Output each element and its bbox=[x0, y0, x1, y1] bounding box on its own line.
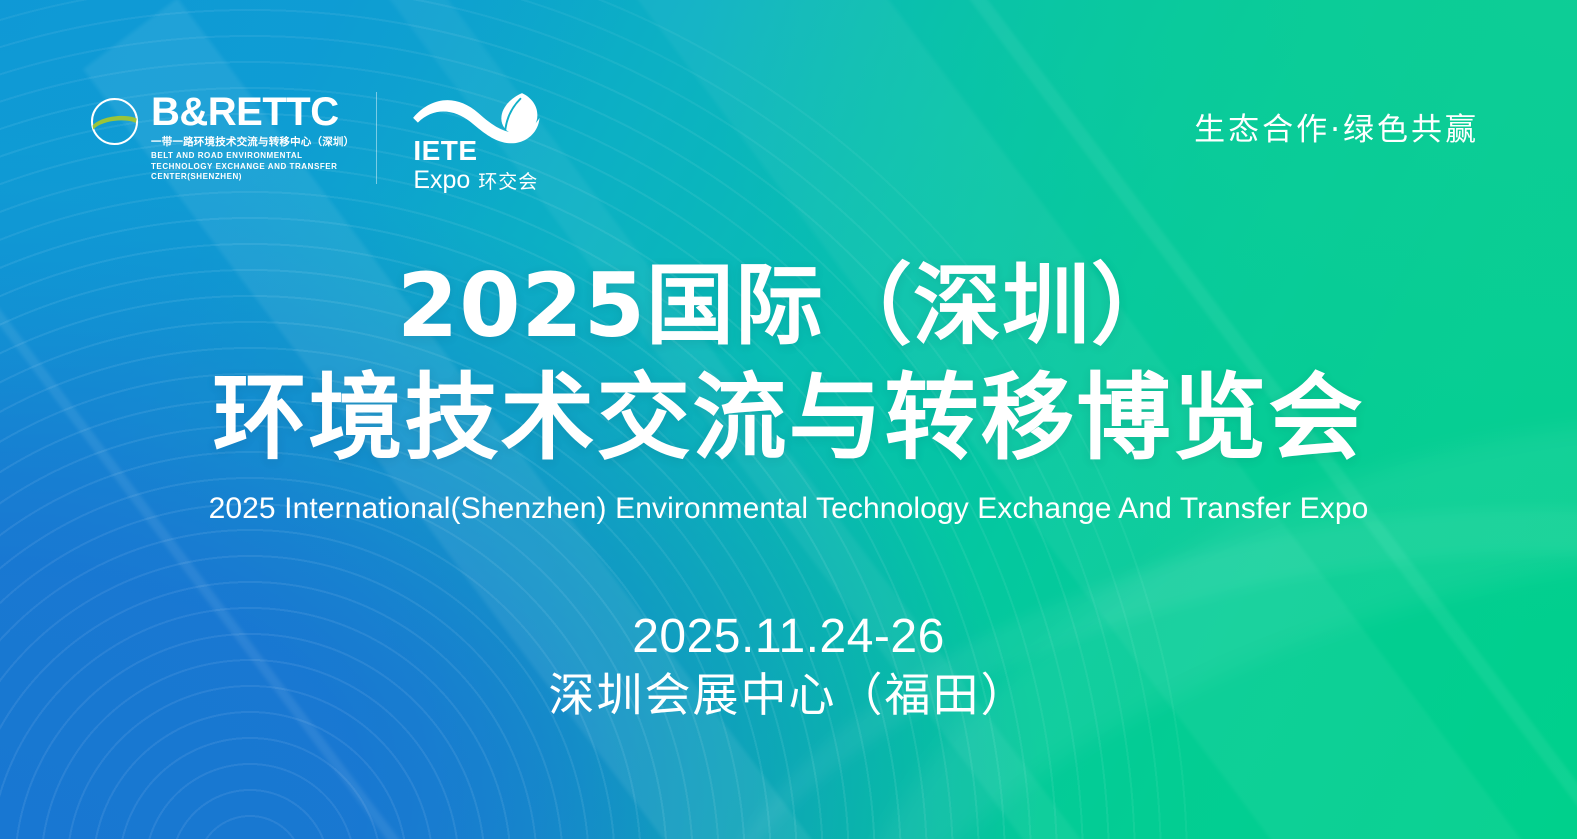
poster-main: 2025国际（深圳） 环境技术交流与转移博览会 2025 Internation… bbox=[0, 0, 1577, 839]
event-title-english: 2025 International(Shenzhen) Environment… bbox=[0, 490, 1577, 528]
event-title-line2: 环境技术交流与转移博览会 bbox=[0, 368, 1577, 470]
event-title-line1: 2025国际（深圳） bbox=[0, 258, 1577, 354]
event-date: 2025.11.24-26 bbox=[0, 608, 1577, 666]
event-venue: 深圳会展中心（福田） bbox=[0, 666, 1577, 724]
event-poster: B&RETTC 一带一路环境技术交流与转移中心（深圳） BELT AND ROA… bbox=[0, 0, 1577, 839]
